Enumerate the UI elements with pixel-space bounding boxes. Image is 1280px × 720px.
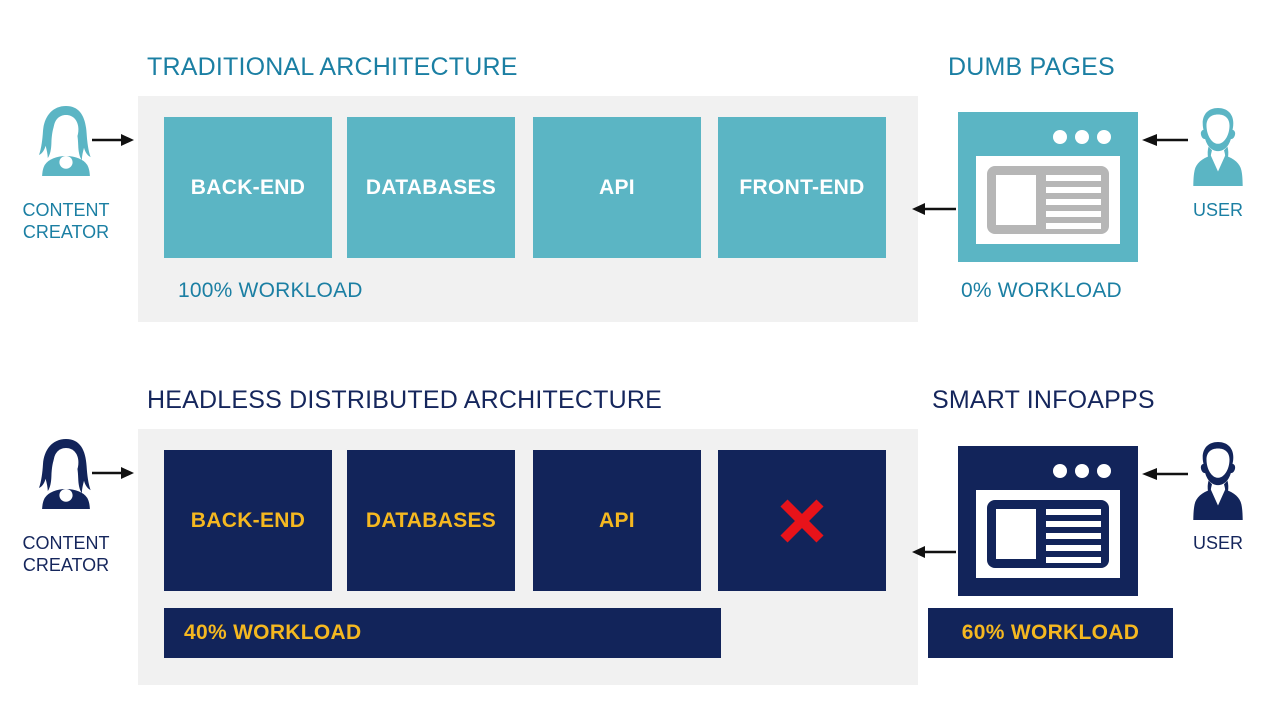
box-headless-back-end[interactable]: BACK-END — [164, 450, 332, 591]
red-x-icon — [776, 495, 828, 547]
user-icon-headless — [1186, 439, 1250, 523]
box-traditional-back-end[interactable]: BACK-END — [164, 117, 332, 258]
user-icon-traditional — [1186, 105, 1250, 189]
box-traditional-databases[interactable]: DATABASES — [347, 117, 515, 258]
diagram-canvas: TRADITIONAL ARCHITECTURE DUMB PAGES CONT… — [0, 0, 1280, 720]
box-traditional-front-end[interactable]: FRONT-END — [718, 117, 886, 258]
workload-dumb-pages-client: 0% WORKLOAD — [961, 279, 1122, 303]
arrow-page-to-frontend-icon — [900, 199, 958, 219]
browser-page-icon-dumb — [958, 112, 1138, 262]
user-label-traditional: USER — [1162, 199, 1274, 221]
arrow-user-to-infoapp-icon — [1136, 464, 1190, 484]
section-title-traditional: TRADITIONAL ARCHITECTURE — [147, 53, 518, 82]
section-title-dumb-pages: DUMB PAGES — [948, 53, 1115, 82]
box-headless-databases[interactable]: DATABASES — [347, 450, 515, 591]
workload-bar-headless-server: 40% WORKLOAD — [164, 608, 721, 658]
section-title-smart-infoapps: SMART INFOAPPS — [932, 386, 1155, 415]
box-headless-api[interactable]: API — [533, 450, 701, 591]
section-title-headless: HEADLESS DISTRIBUTED ARCHITECTURE — [147, 386, 662, 415]
arrow-creator-to-backend-icon — [90, 130, 136, 150]
workload-traditional-server: 100% WORKLOAD — [178, 279, 363, 303]
box-traditional-api[interactable]: API — [533, 117, 701, 258]
workload-bar-smart-infoapps-client: 60% WORKLOAD — [928, 608, 1173, 658]
browser-page-icon-smart — [958, 446, 1138, 596]
arrow-creator-to-backend-icon-headless — [90, 463, 136, 483]
arrow-user-to-page-icon — [1136, 130, 1190, 150]
content-creator-label-headless: CONTENT CREATOR — [10, 532, 122, 576]
arrow-infoapp-to-api-icon — [900, 542, 958, 562]
box-headless-front-end-removed[interactable] — [718, 450, 886, 591]
user-label-headless: USER — [1162, 532, 1274, 554]
content-creator-label: CONTENT CREATOR — [10, 199, 122, 243]
